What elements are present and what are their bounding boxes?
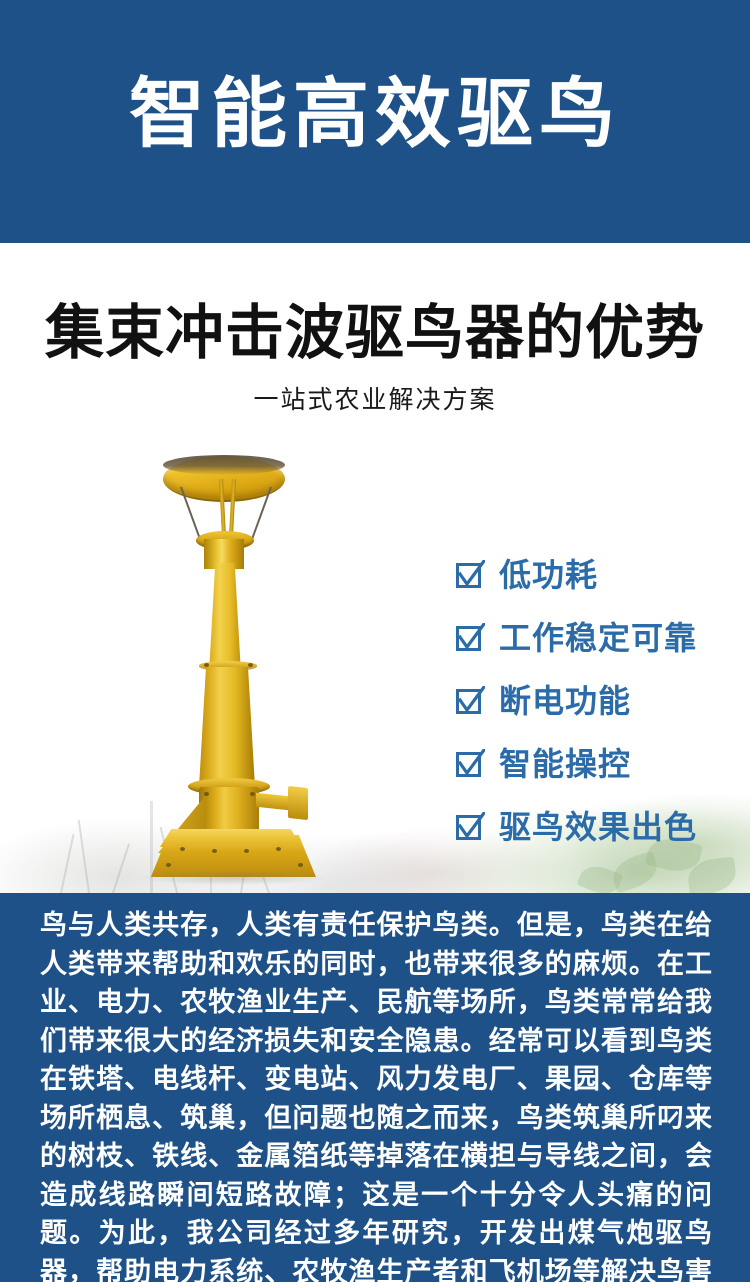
product-shadow bbox=[138, 871, 328, 885]
feature-label: 工作稳定可靠 bbox=[499, 621, 697, 655]
product-bolt bbox=[204, 792, 209, 796]
header-banner: 智能高效驱鸟 bbox=[0, 0, 750, 243]
checkbox-checked-icon bbox=[455, 812, 485, 842]
product-dish-rim bbox=[163, 455, 285, 475]
feature-list: 低功耗 工作稳定可靠 断电功能 bbox=[455, 543, 745, 858]
header-title: 智能高效驱鸟 bbox=[0, 66, 750, 162]
feature-label: 低功耗 bbox=[499, 558, 598, 592]
product-image bbox=[120, 443, 400, 893]
checkbox-checked-icon bbox=[455, 560, 485, 590]
description-block: 鸟与人类共存，人类有责任保护鸟类。但是，鸟类在给人类带来帮助和欢乐的同时，也带来… bbox=[0, 893, 750, 1282]
feature-item-stable-reliable[interactable]: 工作稳定可靠 bbox=[455, 606, 745, 669]
background-leaf bbox=[686, 857, 737, 893]
product-bolt bbox=[276, 847, 281, 851]
background-grass bbox=[78, 820, 90, 893]
feature-label: 智能操控 bbox=[499, 747, 631, 781]
product-arm-end bbox=[288, 786, 308, 820]
product-bolt bbox=[248, 663, 253, 667]
product-bolt bbox=[166, 863, 171, 867]
background-leaf bbox=[577, 860, 624, 893]
feature-item-smart-control[interactable]: 智能操控 bbox=[455, 732, 745, 795]
feature-item-power-off[interactable]: 断电功能 bbox=[455, 669, 745, 732]
page-subtitle: 一站式农业解决方案 bbox=[0, 383, 750, 417]
product-bolt bbox=[204, 663, 209, 667]
checkbox-checked-icon bbox=[455, 623, 485, 653]
feature-label: 驱鸟效果出色 bbox=[499, 810, 697, 844]
product-bolt bbox=[250, 792, 255, 796]
feature-item-bird-repelling-effect[interactable]: 驱鸟效果出色 bbox=[455, 795, 745, 858]
product-bolt bbox=[180, 847, 185, 851]
main-content-section: 集束冲击波驱鸟器的优势 一站式农业解决方案 bbox=[0, 243, 750, 893]
product-lower-body bbox=[192, 667, 262, 787]
product-bolt bbox=[212, 849, 217, 853]
checkbox-checked-icon bbox=[455, 686, 485, 716]
product-bolt bbox=[298, 863, 303, 867]
page-title: 集束冲击波驱鸟器的优势 bbox=[0, 298, 750, 368]
background-grass bbox=[60, 834, 74, 893]
feature-label: 断电功能 bbox=[499, 684, 631, 718]
feature-item-low-power[interactable]: 低功耗 bbox=[455, 543, 745, 606]
description-paragraph: 鸟与人类共存，人类有责任保护鸟类。但是，鸟类在给人类带来帮助和欢乐的同时，也带来… bbox=[40, 907, 712, 1282]
product-bolt bbox=[244, 849, 249, 853]
checkbox-checked-icon bbox=[455, 749, 485, 779]
